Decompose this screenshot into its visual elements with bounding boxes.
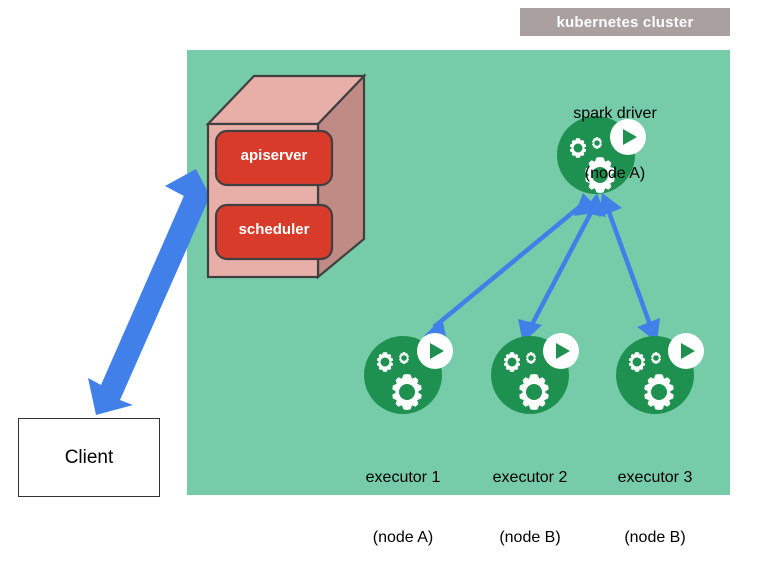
client-box: Client bbox=[18, 418, 160, 497]
executor-3-label: executor 3 (node B) bbox=[585, 428, 725, 568]
spark-driver-label-line2: (node A) bbox=[530, 164, 700, 184]
client-label: Client bbox=[65, 447, 114, 469]
executor-1-label: executor 1 (node A) bbox=[333, 428, 473, 568]
executor-1-label-line2: (node A) bbox=[333, 528, 473, 548]
apiserver-label: apiserver bbox=[216, 147, 332, 164]
executor-1-label-line1: executor 1 bbox=[333, 468, 473, 488]
apiserver-label-wrap: apiserver bbox=[216, 128, 332, 182]
kubernetes-cluster-label: kubernetes cluster bbox=[520, 8, 730, 36]
spark-driver-label: spark driver (node A) bbox=[530, 64, 700, 204]
executor-2-label-line1: executor 2 bbox=[460, 468, 600, 488]
scheduler-label-wrap: scheduler bbox=[216, 202, 332, 256]
spark-driver-label-line1: spark driver bbox=[530, 104, 700, 124]
executor-3-label-line2: (node B) bbox=[585, 528, 725, 548]
executor-3-label-line1: executor 3 bbox=[585, 468, 725, 488]
executor-2-label-line2: (node B) bbox=[460, 528, 600, 548]
executor-2-label: executor 2 (node B) bbox=[460, 428, 600, 568]
scheduler-label: scheduler bbox=[216, 221, 332, 238]
